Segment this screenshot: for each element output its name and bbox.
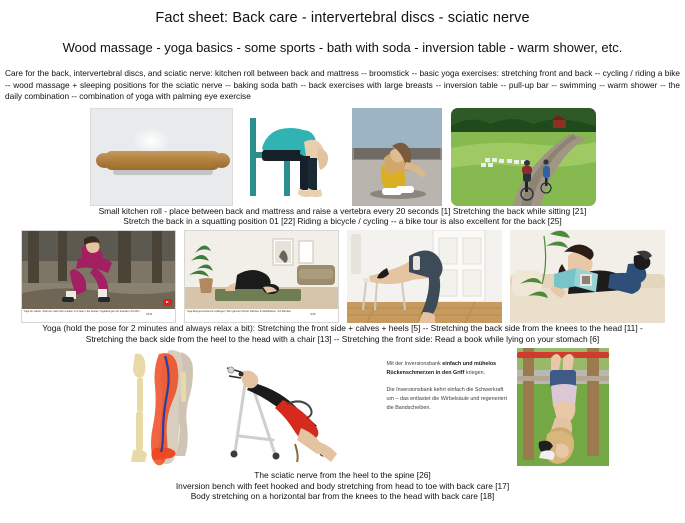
- row-2-captions: Yoga (hold the pose for 2 minutes and al…: [0, 323, 685, 344]
- youtube-thumbnail-yoga-runners[interactable]: Yoga für Läufer | Dehnen nach dem Laufen…: [21, 230, 176, 323]
- girl-hanging-on-horizontal-bar-photo: [517, 348, 609, 466]
- image-row-3: Mit der Inversionsbank einfach und mühel…: [0, 344, 685, 466]
- caption-row1-line2: Stretch the back in a squatting position…: [0, 216, 685, 227]
- thumbnail-duration: 9:53: [310, 313, 315, 317]
- caption-row3-line2: Inversion bench with feet hooked and bod…: [0, 481, 685, 492]
- thumbnail-caption: Yoga für Läufer | Dehnen nach dem Laufen…: [22, 309, 175, 314]
- chair-forward-bend-illustration: [242, 108, 343, 206]
- sciatic-nerve-anatomy-illustration: [125, 348, 217, 466]
- page-subtitle: Wood massage - yoga basics - some sports…: [0, 26, 685, 55]
- cycling-countryside-photo: [451, 108, 596, 206]
- inversion-bench-promo-text: Mit der Inversionsbank einfach und mühel…: [377, 348, 517, 466]
- promo-headline-prefix: Mit der Inversionsbank: [387, 361, 443, 367]
- page-title: Fact sheet: Back care - intervertebral d…: [0, 0, 685, 26]
- rolling-pin-handle-right: [213, 153, 230, 168]
- youtube-thumbnail-yoga-morning-routine[interactable]: Yoga Morgenroutine für Anfänger | Den ga…: [184, 230, 339, 323]
- caption-row3-line1: The sciatic nerve from the heel to the s…: [0, 470, 685, 481]
- thumbnail-image: [185, 231, 338, 309]
- row-3-captions: The sciatic nerve from the heel to the s…: [0, 466, 685, 502]
- thumbnail-caption-text: Yoga Morgenroutine für Anfänger | Den ga…: [187, 310, 292, 313]
- chair-downward-dog-photo: [347, 230, 502, 323]
- intro-paragraph: Care for the back, intervertebral discs,…: [0, 55, 685, 103]
- promo-body: Die Inversionsbank kehrt einfach die Sch…: [387, 386, 511, 412]
- thumbnail-duration: 15:11: [146, 313, 152, 317]
- rolling-pin-handle-left: [96, 153, 113, 168]
- caption-row2-line2: Stretching the back side from the heel t…: [0, 334, 685, 345]
- reading-on-stomach-photo: [510, 230, 665, 323]
- rolling-pin-photo: [90, 108, 233, 206]
- image-row-2: Yoga für Läufer | Dehnen nach dem Laufen…: [0, 227, 685, 323]
- squatting-stretch-photo: [352, 108, 442, 206]
- promo-headline-suffix: kriegen.: [464, 370, 485, 376]
- thumbnail-caption: Yoga Morgenroutine für Anfänger | Den ga…: [185, 309, 338, 314]
- thumbnail-caption-text: Yoga für Läufer | Dehnen nach dem Laufen…: [24, 310, 140, 313]
- image-row-1: [0, 103, 685, 206]
- row-1-captions: Small kitchen roll - place between back …: [0, 206, 685, 227]
- thumbnail-image: [22, 231, 175, 309]
- caption-row2-line1: Yoga (hold the pose for 2 minutes and al…: [0, 323, 685, 334]
- inversion-bench-photo: [217, 348, 377, 466]
- fact-sheet-page: Fact sheet: Back care - intervertebral d…: [0, 0, 685, 523]
- rolling-pin-body: [105, 151, 220, 170]
- caption-row3-line3: Body stretching on a horizontal bar from…: [0, 491, 685, 502]
- caption-row1-line1: Small kitchen roll - place between back …: [0, 206, 685, 217]
- youtube-play-badge-icon: [163, 299, 172, 306]
- promo-headline: Mit der Inversionsbank einfach und mühel…: [387, 360, 511, 377]
